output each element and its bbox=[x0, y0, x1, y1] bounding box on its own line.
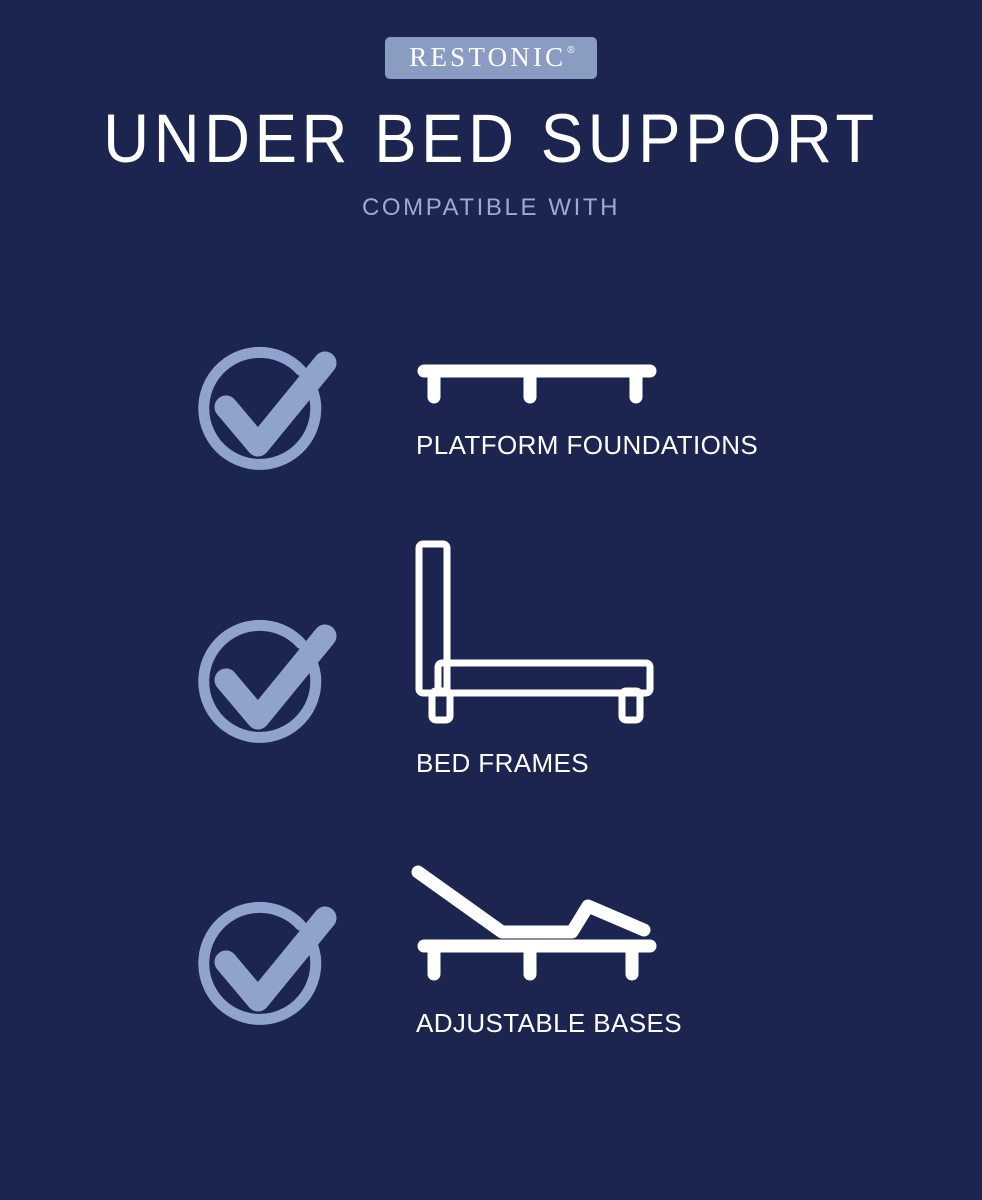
compatibility-row-platform-foundations: PLATFORM FOUNDATIONS bbox=[0, 335, 982, 505]
adjustable-base-icon bbox=[410, 860, 670, 995]
platform-foundation-icon bbox=[410, 335, 670, 420]
item-label-platform-foundations: PLATFORM FOUNDATIONS bbox=[416, 430, 758, 461]
brand-logo: RESTONIC ® bbox=[0, 37, 982, 79]
logo-wordmark: RESTONIC bbox=[409, 44, 566, 71]
check-circle-icon bbox=[188, 608, 338, 763]
bed-frame-icon bbox=[410, 533, 670, 738]
compatibility-row-adjustable-bases: ADJUSTABLE BASES bbox=[0, 860, 982, 1030]
compatibility-row-bed-frames: BED FRAMES bbox=[0, 533, 982, 703]
page-title: UNDER BED SUPPORT bbox=[39, 99, 942, 179]
logo-badge: RESTONIC ® bbox=[385, 37, 597, 79]
registered-trademark-icon: ® bbox=[567, 46, 574, 56]
page-subtitle: COMPATIBLE WITH bbox=[0, 194, 982, 222]
item-label-adjustable-bases: ADJUSTABLE BASES bbox=[416, 1008, 682, 1039]
check-circle-icon bbox=[188, 890, 338, 1045]
infographic-page: RESTONIC ® UNDER BED SUPPORT COMPATIBLE … bbox=[0, 0, 982, 1200]
item-label-bed-frames: BED FRAMES bbox=[416, 748, 589, 779]
check-circle-icon bbox=[188, 335, 338, 490]
